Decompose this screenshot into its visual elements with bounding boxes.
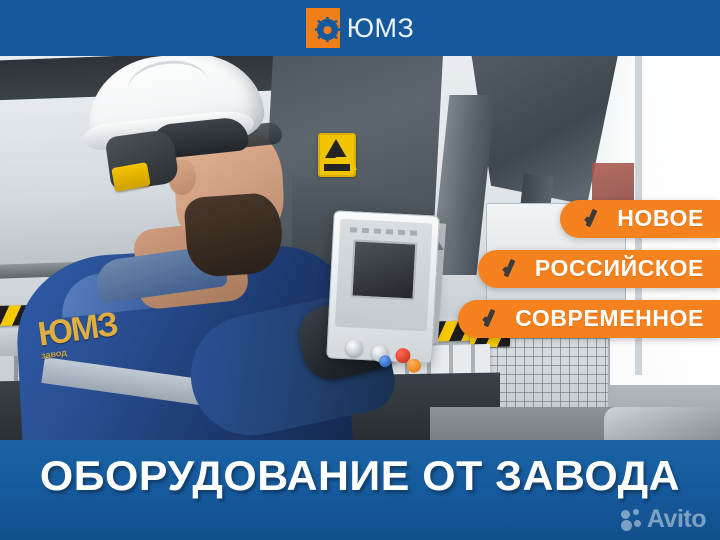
bottom-headline-bar: ОБОРУДОВАНИЕ ОТ ЗАВОДА Avito [0,440,720,540]
feature-badge-modern: СОВРЕМЕННОЕ [458,300,720,338]
feature-badge-label: СОВРЕМЕННОЕ [515,307,704,330]
avito-wordmark: Avito [647,507,706,532]
check-icon [480,308,502,330]
gear-icon-glyph [315,17,340,42]
brand-logo-lockup: ЮМЗ [306,8,415,48]
pendant-display-screen [350,239,417,300]
check-icon [500,258,522,280]
feature-badge-label: НОВОЕ [617,207,704,230]
feature-badge-list: НОВОЕ РОССИЙСКОЕ СОВРЕМЕННОЕ [420,200,720,338]
avito-watermark: Avito [621,507,706,532]
pendant-faceplate [335,219,433,332]
pendant-knob-1[interactable] [345,339,363,357]
gear-icon [306,8,340,48]
advertisement-banner: ЮМЗ завод [0,0,720,540]
brand-name: ЮМЗ [347,15,415,42]
ear-defender-clip [111,162,151,192]
headline-text: ОБОРУДОВАНИЕ ОТ ЗАВОДА [0,452,720,500]
feature-badge-russian: РОССИЙСКОЕ [478,250,720,288]
feature-badge-label: РОССИЙСКОЕ [535,257,704,280]
pendant-label-strip [350,227,420,236]
avito-dots-icon [621,509,643,531]
jacket-brand-logo: ЮМЗ завод [36,308,114,381]
top-brand-bar: ЮМЗ [0,0,720,56]
feature-badge-new: НОВОЕ [560,200,720,238]
check-icon [582,208,604,230]
